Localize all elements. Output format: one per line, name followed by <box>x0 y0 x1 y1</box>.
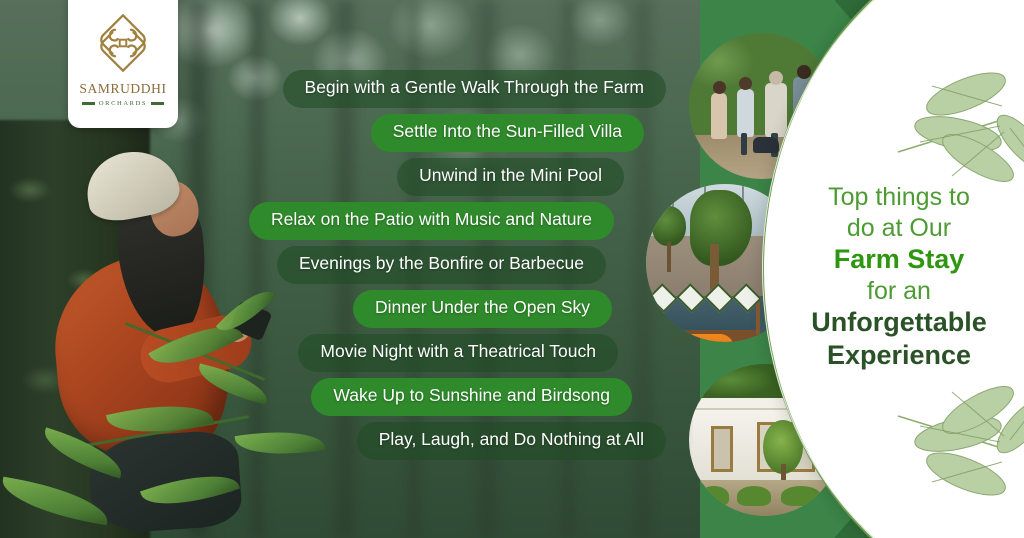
activity-pill[interactable]: Dinner Under the Open Sky <box>353 290 612 328</box>
headline-line-1: Top things to <box>786 182 1012 213</box>
potted-tree <box>652 206 686 246</box>
person-leg <box>741 133 747 155</box>
activity-pill[interactable]: Unwind in the Mini Pool <box>397 158 624 196</box>
list-item[interactable]: Unwind in the Mini Pool <box>0 158 680 196</box>
activity-list: Begin with a Gentle Walk Through the Far… <box>0 70 680 466</box>
tree-trunk <box>667 242 671 272</box>
list-item[interactable]: Relax on the Patio with Music and Nature <box>0 202 680 240</box>
headline-line-3: Farm Stay <box>786 243 1012 276</box>
leaf-sprig-decoration <box>880 378 1024 528</box>
dog-figure <box>753 137 779 153</box>
list-item[interactable]: Settle Into the Sun-Filled Villa <box>0 114 680 152</box>
person-head <box>797 65 811 79</box>
list-item[interactable]: Evenings by the Bonfire or Barbecue <box>0 246 680 284</box>
activity-pill[interactable]: Movie Night with a Theatrical Touch <box>298 334 618 372</box>
orange-rug <box>646 334 734 342</box>
person-figure <box>737 89 754 137</box>
activity-pill[interactable]: Begin with a Gentle Walk Through the Far… <box>283 70 666 108</box>
list-item[interactable]: Dinner Under the Open Sky <box>0 290 680 328</box>
villa-door <box>711 426 733 472</box>
shrub <box>699 486 729 506</box>
list-item[interactable]: Begin with a Gentle Walk Through the Far… <box>0 70 680 108</box>
headline-line-5: Unforgettable <box>786 306 1012 339</box>
poster-canvas: SAMRUDDHI ORCHARDS Begin with a Gentle W… <box>0 0 1024 538</box>
list-item[interactable]: Play, Laugh, and Do Nothing at All <box>0 422 680 460</box>
interlocking-knot-logo-icon <box>90 10 156 76</box>
activity-pill[interactable]: Evenings by the Bonfire or Barbecue <box>277 246 606 284</box>
list-item[interactable]: Wake Up to Sunshine and Birdsong <box>0 378 680 416</box>
list-item[interactable]: Movie Night with a Theatrical Touch <box>0 334 680 372</box>
activity-pill[interactable]: Play, Laugh, and Do Nothing at All <box>357 422 666 460</box>
activity-pill[interactable]: Relax on the Patio with Music and Nature <box>249 202 614 240</box>
person-figure <box>765 83 787 137</box>
headline-line-4: for an <box>786 276 1012 307</box>
shrub <box>781 486 821 506</box>
activity-pill[interactable]: Settle Into the Sun-Filled Villa <box>371 114 644 152</box>
shrub <box>737 486 771 506</box>
person-head <box>769 71 783 85</box>
activity-pill[interactable]: Wake Up to Sunshine and Birdsong <box>311 378 632 416</box>
headline-line-2: do at Our <box>786 213 1012 244</box>
person-head <box>713 81 726 94</box>
person-head <box>739 77 752 90</box>
headline-line-6: Experience <box>786 339 1012 372</box>
person-figure <box>711 93 727 139</box>
leaf-sprig-decoration <box>880 40 1024 190</box>
headline-block: Top things to do at Our Farm Stay for an… <box>786 182 1012 372</box>
